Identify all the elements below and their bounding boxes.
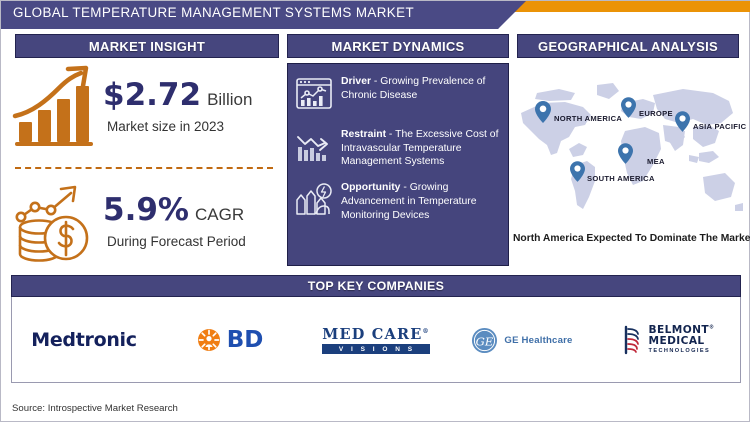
belmont-mark-icon	[622, 325, 644, 355]
market-size-block: $2.72Billion Market size in 2023	[9, 63, 281, 151]
section-header-market-dynamics-label: MARKET DYNAMICS	[331, 39, 464, 54]
section-header-market-insight: MARKET INSIGHT	[15, 34, 279, 58]
geographical-analysis-caption: North America Expected To Dominate The M…	[513, 233, 747, 244]
section-header-geographical-analysis-label: GEOGRAPHICAL ANALYSIS	[538, 39, 718, 54]
map-pin-europe[interactable]	[621, 97, 636, 118]
market-size-value: $2.72	[103, 80, 201, 111]
dynamics-opportunity-text: Opportunity - Growing Advancement in Tem…	[341, 178, 502, 222]
infographic-frame: GLOBAL TEMPERATURE MANAGEMENT SYSTEMS MA…	[0, 0, 750, 422]
belmont-line-3: TECHNOLOGIES	[649, 349, 715, 355]
dynamics-driver-text: Driver - Growing Prevalence of Chronic D…	[341, 72, 502, 102]
ge-monogram-icon: GE	[471, 327, 498, 354]
geographical-analysis-block: NORTH AMERICA EUROPE ASIA PACIFIC MEA SO…	[513, 61, 747, 266]
dynamics-restraint-separator: -	[386, 129, 395, 140]
cagr-unit: CAGR	[195, 205, 244, 225]
map-pin-north-america[interactable]	[535, 101, 551, 123]
market-dynamics-panel: Driver - Growing Prevalence of Chronic D…	[287, 63, 509, 266]
medtronic-logo: Medtronic	[31, 329, 137, 351]
map-label-mea: MEA	[647, 157, 665, 166]
page-title: GLOBAL TEMPERATURE MANAGEMENT SYSTEMS MA…	[13, 5, 414, 20]
map-label-north-america: NORTH AMERICA	[554, 114, 622, 123]
dynamics-driver-label: Driver	[341, 76, 371, 87]
dynamics-item-restraint: Restraint - The Excessive Cost of Intrav…	[292, 125, 502, 169]
ge-healthcare-logo-text: GE Healthcare	[504, 335, 572, 346]
map-label-asia-pacific: ASIA PACIFIC	[693, 122, 746, 131]
bd-sunburst-icon	[197, 328, 221, 352]
company-logo-row: Medtronic BD MED	[11, 301, 741, 379]
company-logo-belmont-medical[interactable]: BELMONT® MEDICAL TECHNOLOGIES	[595, 301, 741, 379]
section-divider	[15, 167, 273, 169]
map-pin-mea[interactable]	[618, 143, 633, 164]
bd-logo-text: BD	[227, 327, 264, 353]
map-pin-asia-pacific[interactable]	[675, 111, 690, 132]
section-header-market-insight-label: MARKET INSIGHT	[89, 39, 205, 54]
dynamics-restraint-text: Restraint - The Excessive Cost of Intrav…	[341, 125, 502, 169]
section-header-top-key-companies-label: TOP KEY COMPANIES	[308, 279, 444, 293]
map-pin-south-america[interactable]	[570, 161, 585, 182]
coins-trend-icon	[9, 179, 101, 265]
market-size-text: $2.72Billion Market size in 2023	[101, 80, 281, 134]
map-label-europe: EUROPE	[639, 109, 673, 118]
belmont-line-2: MEDICAL	[649, 336, 715, 347]
company-logo-ge-healthcare[interactable]: GE GE Healthcare	[449, 301, 595, 379]
dynamics-item-opportunity: Opportunity - Growing Advancement in Tem…	[292, 178, 502, 222]
company-logo-medtronic[interactable]: Medtronic	[11, 301, 157, 379]
med-care-visions-subtext: V I S I O N S	[322, 344, 429, 354]
market-size-caption: Market size in 2023	[107, 119, 281, 134]
svg-text:GE: GE	[476, 334, 494, 348]
market-size-unit: Billion	[207, 90, 252, 110]
section-header-top-key-companies: TOP KEY COMPANIES	[11, 275, 741, 297]
cagr-value: 5.9%	[103, 195, 189, 226]
declining-bar-chart-icon	[292, 125, 336, 169]
registered-mark: ®	[709, 325, 714, 331]
cagr-caption: During Forecast Period	[107, 234, 281, 249]
map-label-south-america: SOUTH AMERICA	[587, 174, 655, 183]
company-logo-bd[interactable]: BD	[157, 301, 303, 379]
section-header-market-dynamics: MARKET DYNAMICS	[287, 34, 509, 58]
cagr-block: 5.9%CAGR During Forecast Period	[9, 179, 281, 265]
growth-arrows-hand-icon	[292, 178, 336, 222]
dynamics-driver-separator: -	[371, 76, 380, 87]
dynamics-opportunity-separator: -	[400, 182, 409, 193]
dynamics-restraint-label: Restraint	[341, 129, 386, 140]
section-header-geographical-analysis: GEOGRAPHICAL ANALYSIS	[517, 34, 739, 58]
cagr-text: 5.9%CAGR During Forecast Period	[101, 195, 281, 249]
dynamics-opportunity-label: Opportunity	[341, 182, 400, 193]
company-logo-med-care-visions[interactable]: MED CARE® V I S I O N S	[303, 301, 449, 379]
bar-chart-growth-icon	[9, 64, 101, 150]
med-care-logo-text: MED CARE	[322, 326, 422, 343]
registered-mark: ®	[423, 328, 430, 335]
dynamics-item-driver: Driver - Growing Prevalence of Chronic D…	[292, 72, 502, 116]
dashboard-analytics-icon	[292, 72, 336, 116]
source-note: Source: Introspective Market Research	[12, 403, 178, 414]
orange-accent-bar	[498, 1, 750, 12]
